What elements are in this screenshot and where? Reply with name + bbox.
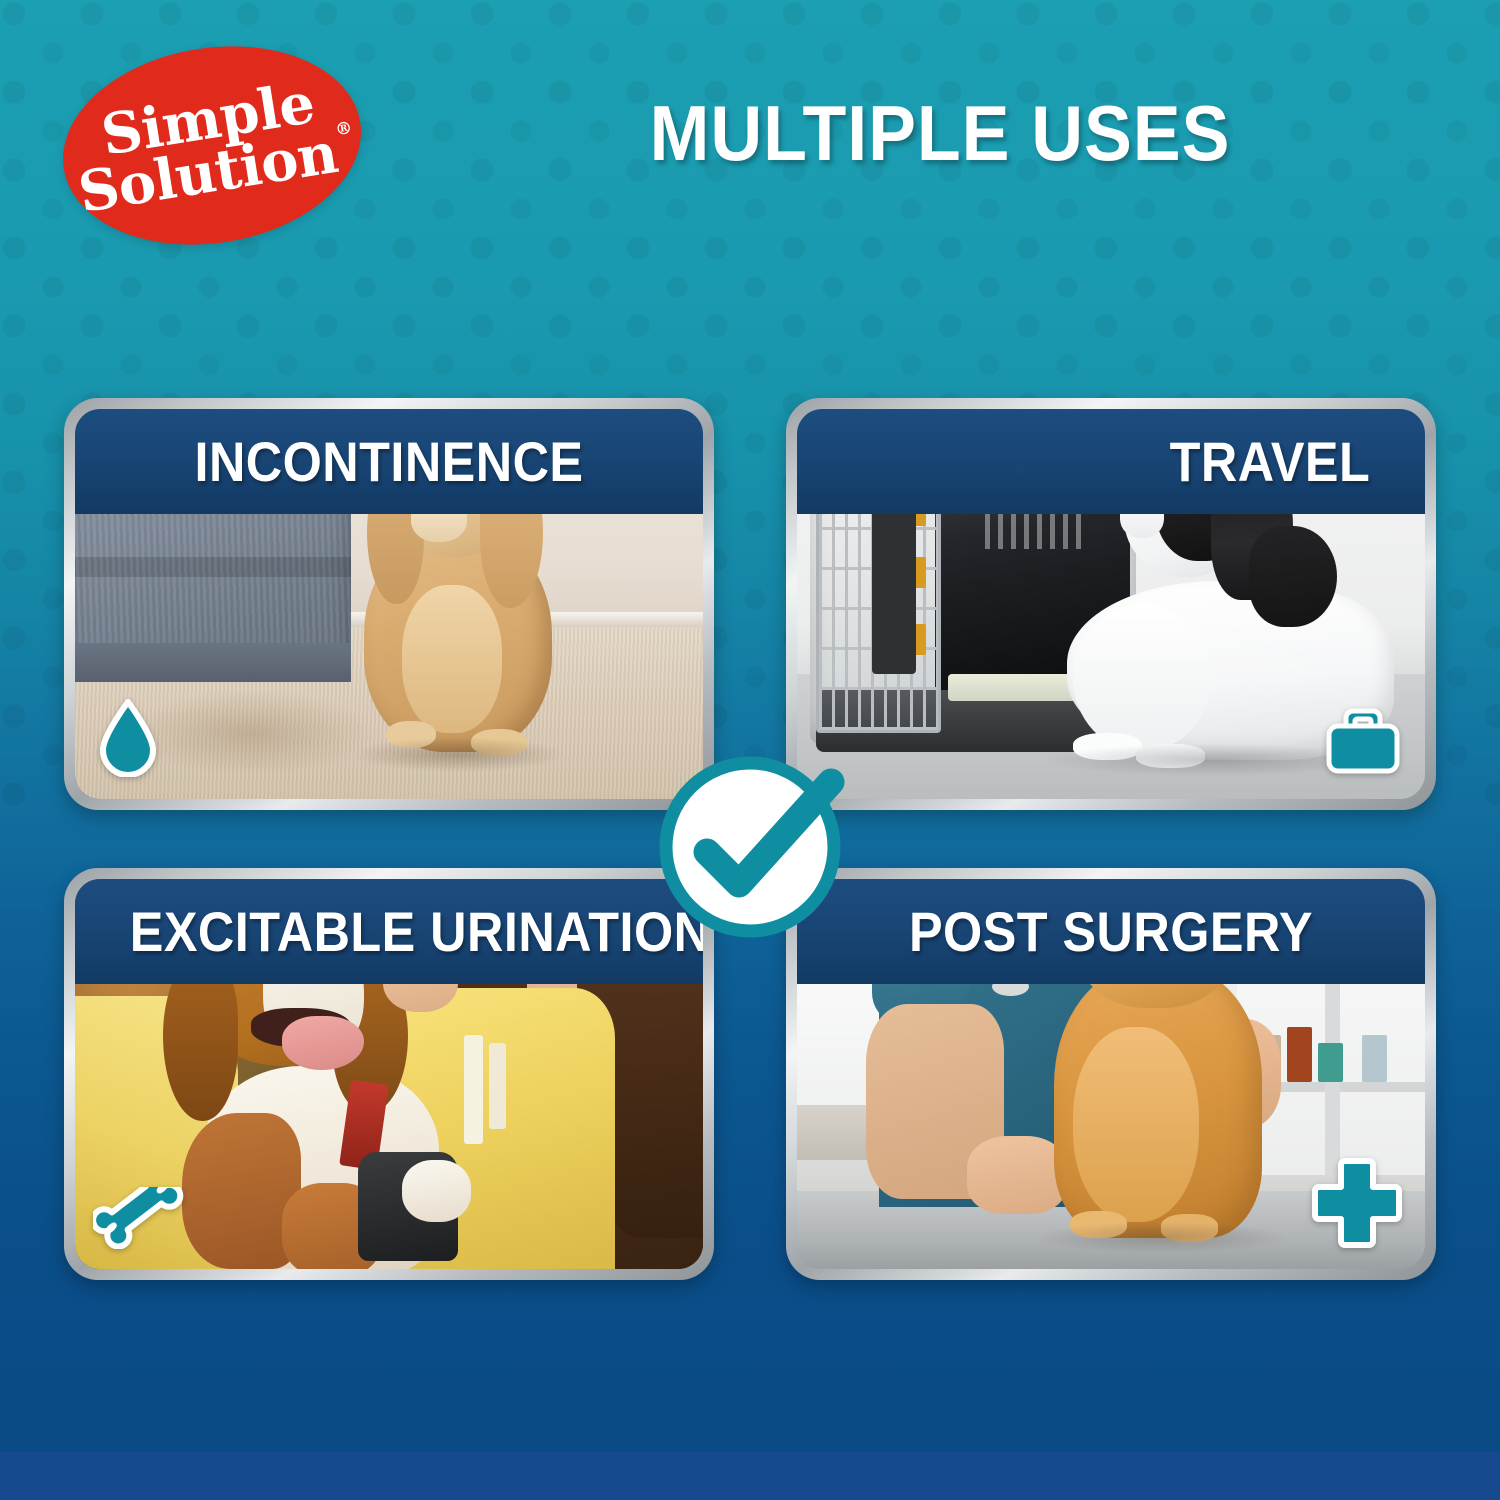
card-header-excitable-urination: EXCITABLE URINATION [75, 879, 703, 984]
check-circle-icon [655, 752, 845, 942]
brand-logo: Simple Solution® [62, 48, 362, 243]
card-title: POST SURGERY [852, 899, 1370, 964]
water-drop-icon [97, 699, 159, 777]
card-header-travel: TRAVEL [797, 409, 1425, 514]
card-header-post-surgery: POST SURGERY [797, 879, 1425, 984]
logo-wordmark: Simple Solution® [49, 26, 376, 266]
dog-bone-icon [93, 1187, 197, 1249]
card-header-incontinence: INCONTINENCE [75, 409, 703, 514]
suitcase-icon [1323, 705, 1403, 777]
card-post-surgery[interactable]: POST SURGERY [786, 868, 1436, 1280]
card-travel[interactable]: TRAVEL [786, 398, 1436, 810]
card-title: TRAVEL [852, 429, 1370, 494]
page-title: MULTIPLE USES [471, 88, 1409, 179]
card-inner: INCONTINENCE [75, 409, 703, 799]
card-inner: EXCITABLE URINATION [75, 879, 703, 1269]
poster-canvas: Simple Solution® MULTIPLE USES [0, 0, 1500, 1500]
bottom-color-band [0, 1452, 1500, 1500]
card-title: EXCITABLE URINATION [130, 899, 648, 964]
registered-mark: ® [334, 118, 353, 140]
card-inner: TRAVEL [797, 409, 1425, 799]
card-inner: POST SURGERY [797, 879, 1425, 1269]
card-title: INCONTINENCE [130, 429, 648, 494]
card-incontinence[interactable]: INCONTINENCE [64, 398, 714, 810]
medical-cross-icon [1309, 1155, 1405, 1251]
card-excitable-urination[interactable]: EXCITABLE URINATION [64, 868, 714, 1280]
